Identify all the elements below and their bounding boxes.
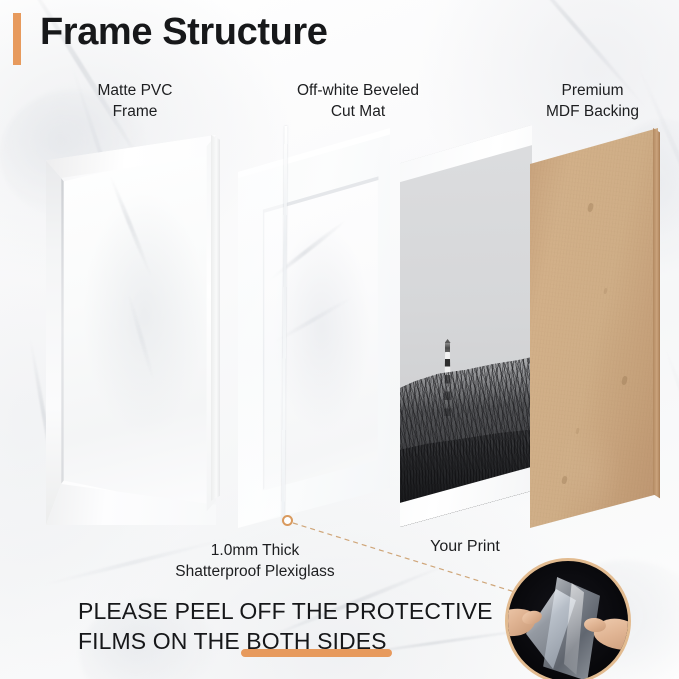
frame-aperture — [46, 135, 216, 525]
label-plexi-line1: 1.0mm Thick — [120, 540, 390, 561]
peel-film-photo-inset — [505, 558, 631, 679]
label-plexiglass: 1.0mm Thick Shatterproof Plexiglass — [120, 540, 390, 582]
mdf-board-edge — [653, 128, 660, 528]
mdf-grain-texture — [530, 128, 658, 528]
panel-photo-print — [400, 125, 532, 527]
headline-line1: PLEASE PEEL OFF THE PROTECTIVE — [78, 596, 498, 626]
infographic-canvas: Frame Structure Matte PVC Frame Off-whit… — [0, 0, 679, 679]
lighthouse-lantern — [445, 343, 450, 353]
headline-line2-prefix: FILMS ON THE — [78, 628, 246, 654]
frame-outer-edge — [211, 135, 220, 525]
headline-line2: FILMS ON THE BOTH SIDES — [78, 626, 498, 656]
label-plexi-line2: Shatterproof Plexiglass — [120, 561, 390, 582]
headline-both-sides-highlight: BOTH SIDES — [246, 626, 386, 656]
label-your-print: Your Print — [400, 538, 530, 556]
peel-instruction-headline: PLEASE PEEL OFF THE PROTECTIVE FILMS ON … — [78, 596, 498, 656]
plexiglass-marker-dot — [282, 515, 293, 526]
